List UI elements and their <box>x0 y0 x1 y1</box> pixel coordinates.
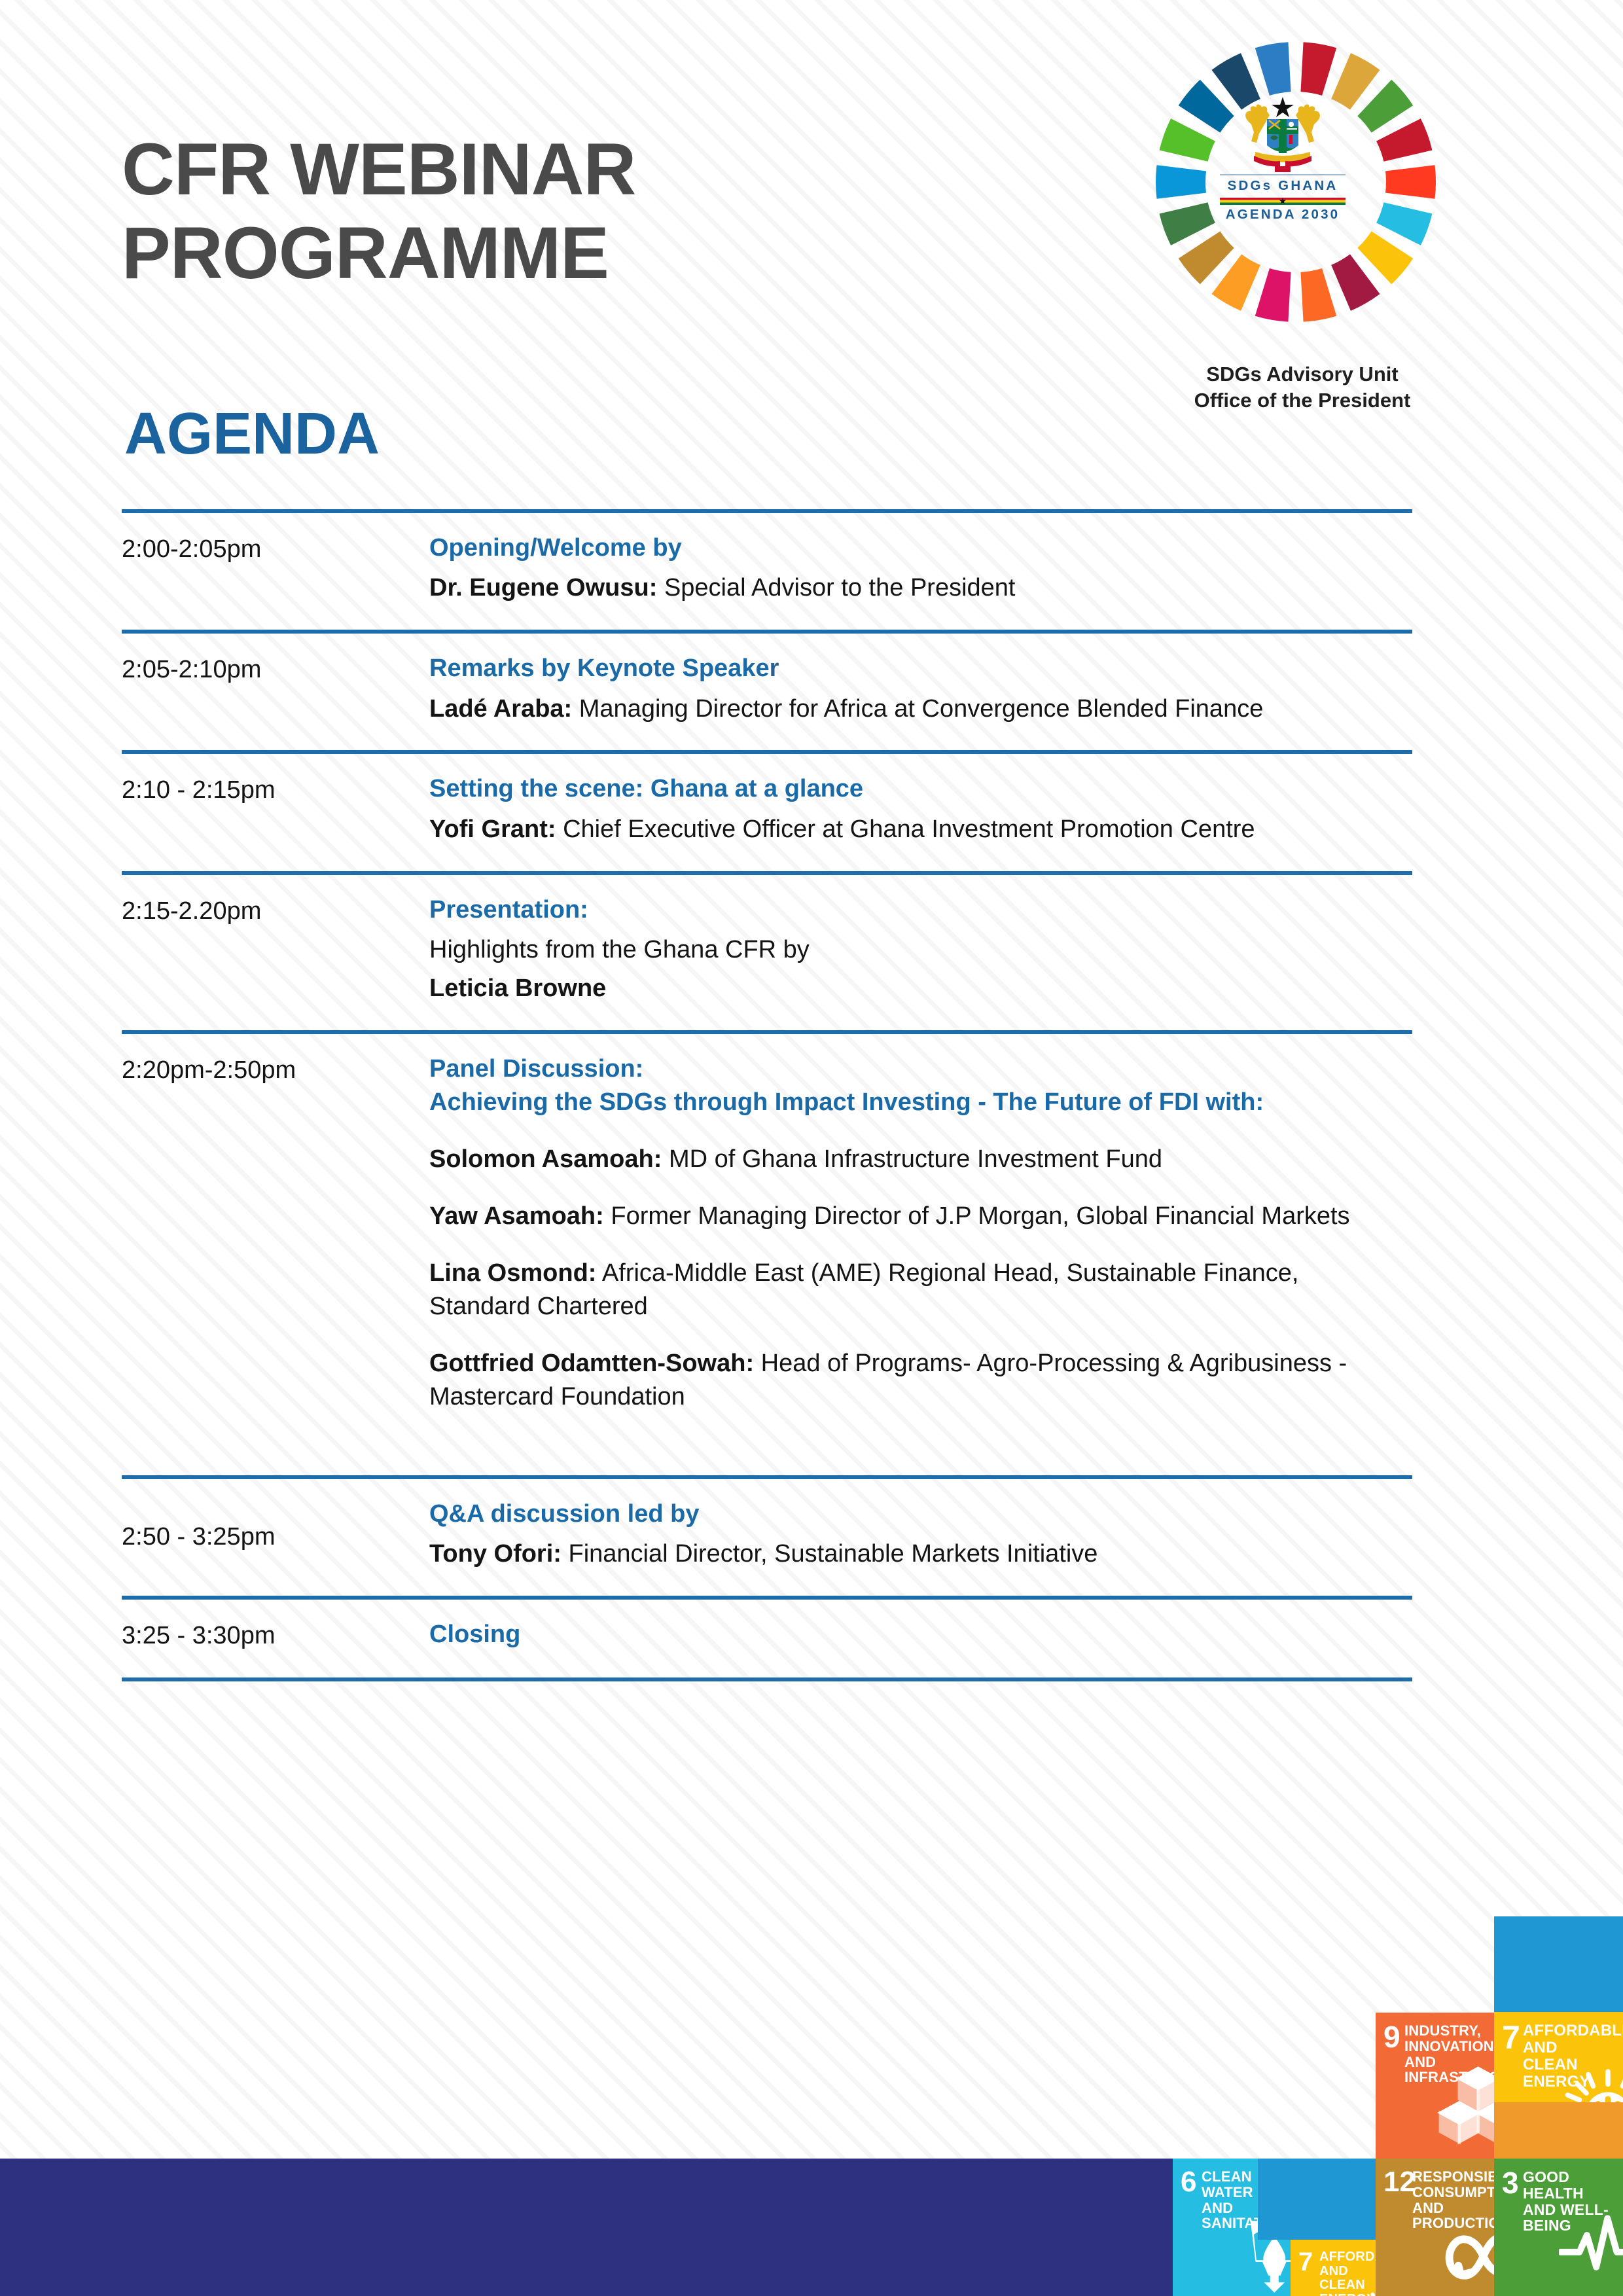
agenda-row-heading: Setting the scene: Ghana at a glance <box>429 772 1406 806</box>
row-divider <box>122 1677 1412 1681</box>
page-header: CFR WEBINAR PROGRAMME AGENDA <box>0 0 1623 497</box>
agenda-row-item: Gottfried Odamtten-Sowah: Head of Progra… <box>429 1347 1406 1414</box>
agenda-row-time: 2:05-2:10pm <box>122 634 429 750</box>
speaker-name: Lina Osmond: <box>429 1259 596 1287</box>
ghana-coat-of-arms-icon <box>1242 96 1323 174</box>
sdg-logo-block: SDGs GHANA ★ AGENDA 2030 SDGs Advisory U… <box>1139 38 1466 470</box>
sdg-goal-number: 12 <box>1383 2168 1416 2197</box>
decor-block-blue-top <box>1494 1916 1623 2012</box>
black-star-icon: ★ <box>1279 197 1287 206</box>
agenda-row: 2:00-2:05pmOpening/Welcome byDr. Eugene … <box>122 513 1412 630</box>
agenda-row: 2:20pm-2:50pmPanel Discussion:Achieving … <box>122 1034 1412 1475</box>
decor-block-orange <box>1494 2102 1623 2159</box>
sdg-goal-tile-7: 7AFFORDABLE ANDCLEAN ENERGY <box>1494 2012 1623 2102</box>
agenda-row-heading: Opening/Welcome by <box>429 531 1406 565</box>
agenda-row-content: Q&A discussion led byTony Ofori: Financi… <box>429 1479 1412 1596</box>
agenda-row-content: Presentation:Highlights from the Ghana C… <box>429 875 1412 1030</box>
agenda-row-time: 2:50 - 3:25pm <box>122 1479 429 1596</box>
agenda-heading: AGENDA <box>124 401 380 468</box>
speaker-role: Managing Director for Africa at Converge… <box>572 695 1263 723</box>
agenda-row: 3:25 - 3:30pmClosing <box>122 1600 1412 1677</box>
speaker-name: Tony Ofori: <box>429 1540 562 1568</box>
agenda-row-content: Setting the scene: Ghana at a glanceYofi… <box>429 754 1412 870</box>
agenda-row-heading: Closing <box>429 1618 1406 1651</box>
page-title: CFR WEBINAR PROGRAMME <box>122 128 1038 295</box>
agenda-row-item: Leticia Browne <box>429 972 1406 1005</box>
agenda-row-heading: Remarks by Keynote Speaker <box>429 652 1406 685</box>
agenda-row-item: Highlights from the Ghana CFR by <box>429 933 1406 967</box>
sdg-goal-number: 7 <box>1298 2249 1313 2275</box>
agenda-table: 2:00-2:05pmOpening/Welcome byDr. Eugene … <box>122 509 1412 1681</box>
speaker-name: Yaw Asamoah: <box>429 1202 604 1230</box>
sdg-goal-tile-9: 9INDUSTRY, INNOVATIONAND INFRASTRUCTURE <box>1376 2013 1494 2159</box>
agenda-row-time: 2:00-2:05pm <box>122 513 429 630</box>
agenda-row-heading: Q&A discussion led by <box>429 1498 1406 1531</box>
agenda-row: 2:15-2.20pmPresentation:Highlights from … <box>122 875 1412 1030</box>
page-title-line-2: PROGRAMME <box>122 211 1038 295</box>
speaker-role: Chief Executive Officer at Ghana Investm… <box>556 816 1255 843</box>
logo-caption-line-2: Office of the President <box>1139 387 1466 414</box>
emblem-divider <box>1220 174 1346 175</box>
sdg-goal-tile-12: 12RESPONSIBLECONSUMPTIONAND PRODUCTION <box>1376 2159 1494 2296</box>
logo-caption: SDGs Advisory Unit Office of the Preside… <box>1139 361 1466 414</box>
agenda-row-item: Dr. Eugene Owusu: Special Advisor to the… <box>429 571 1406 605</box>
speaker-role: MD of Ghana Infrastructure Investment Fu… <box>662 1145 1162 1173</box>
row-spacer <box>429 1419 1406 1456</box>
ghana-flag-bar-icon: ★ <box>1220 198 1346 205</box>
speaker-role: Financial Director, Sustainable Markets … <box>562 1540 1097 1568</box>
speaker-name: Solomon Asamoah: <box>429 1145 662 1173</box>
agenda-row-item: Tony Ofori: Financial Director, Sustaina… <box>429 1537 1406 1571</box>
speaker-name: Dr. Eugene Owusu: <box>429 574 657 601</box>
speaker-name: Gottfried Odamtten-Sowah: <box>429 1350 754 1377</box>
emblem-bottom-text: AGENDA 2030 <box>1211 208 1355 222</box>
agenda-row: 2:10 - 2:15pmSetting the scene: Ghana at… <box>122 754 1412 870</box>
sdg-goal-number: 9 <box>1383 2022 1400 2052</box>
speaker-name: Yofi Grant: <box>429 816 556 843</box>
page-title-line-1: CFR WEBINAR <box>122 128 1038 211</box>
emblem-top-text: SDGs GHANA <box>1211 179 1355 193</box>
agenda-row-item: Yaw Asamoah: Former Managing Director of… <box>429 1200 1406 1233</box>
agenda-row: 2:05-2:10pmRemarks by Keynote SpeakerLad… <box>122 634 1412 750</box>
agenda-row-time: 2:10 - 2:15pm <box>122 754 429 870</box>
agenda-row-item: Solomon Asamoah: MD of Ghana Infrastruct… <box>429 1143 1406 1176</box>
speaker-role: Special Advisor to the President <box>657 574 1015 601</box>
logo-caption-line-1: SDGs Advisory Unit <box>1139 361 1466 387</box>
agenda-row-heading: Presentation: <box>429 893 1406 927</box>
sdg-ghana-emblem-text: SDGs GHANA ★ AGENDA 2030 <box>1211 174 1355 221</box>
agenda-row-item: Lina Osmond: Africa-Middle East (AME) Re… <box>429 1257 1406 1323</box>
agenda-row-time: 3:25 - 3:30pm <box>122 1600 429 1677</box>
document-page: CFR WEBINAR PROGRAMME AGENDA <box>0 0 1623 2296</box>
agenda-row-content: Opening/Welcome byDr. Eugene Owusu: Spec… <box>429 513 1412 630</box>
speaker-role: Highlights from the Ghana CFR by <box>429 936 810 963</box>
speaker-name: Ladé Araba: <box>429 695 572 723</box>
speaker-role: Former Managing Director of J.P Morgan, … <box>604 1202 1350 1230</box>
agenda-row-heading: Panel Discussion:Achieving the SDGs thro… <box>429 1052 1406 1120</box>
sdg-goal-label: RESPONSIBLECONSUMPTIONAND PRODUCTION <box>1412 2169 1490 2231</box>
sdg-goal-number: 7 <box>1502 2021 1520 2054</box>
agenda-row-time: 2:15-2.20pm <box>122 875 429 1030</box>
decor-block-blue-middle <box>1258 2159 1376 2240</box>
agenda-row: 2:50 - 3:25pmQ&A discussion led byTony O… <box>122 1479 1412 1596</box>
agenda-row-content: Panel Discussion:Achieving the SDGs thro… <box>429 1034 1412 1475</box>
agenda-row-item: Ladé Araba: Managing Director for Africa… <box>429 692 1406 726</box>
sdg-goal-tile-3: 3GOOD HEALTHAND WELL-BEING <box>1494 2159 1623 2296</box>
sdg-goal-number: 6 <box>1181 2168 1196 2197</box>
agenda-row-item: Yofi Grant: Chief Executive Officer at G… <box>429 813 1406 846</box>
agenda-row-content: Closing <box>429 1600 1412 1677</box>
speaker-name: Leticia Browne <box>429 975 606 1002</box>
sdg-goal-number: 3 <box>1502 2168 1519 2198</box>
agenda-row-content: Remarks by Keynote SpeakerLadé Araba: Ma… <box>429 634 1412 750</box>
agenda-row-time: 2:20pm-2:50pm <box>122 1034 429 1475</box>
agenda-row-heading-tail: r <box>770 655 779 682</box>
